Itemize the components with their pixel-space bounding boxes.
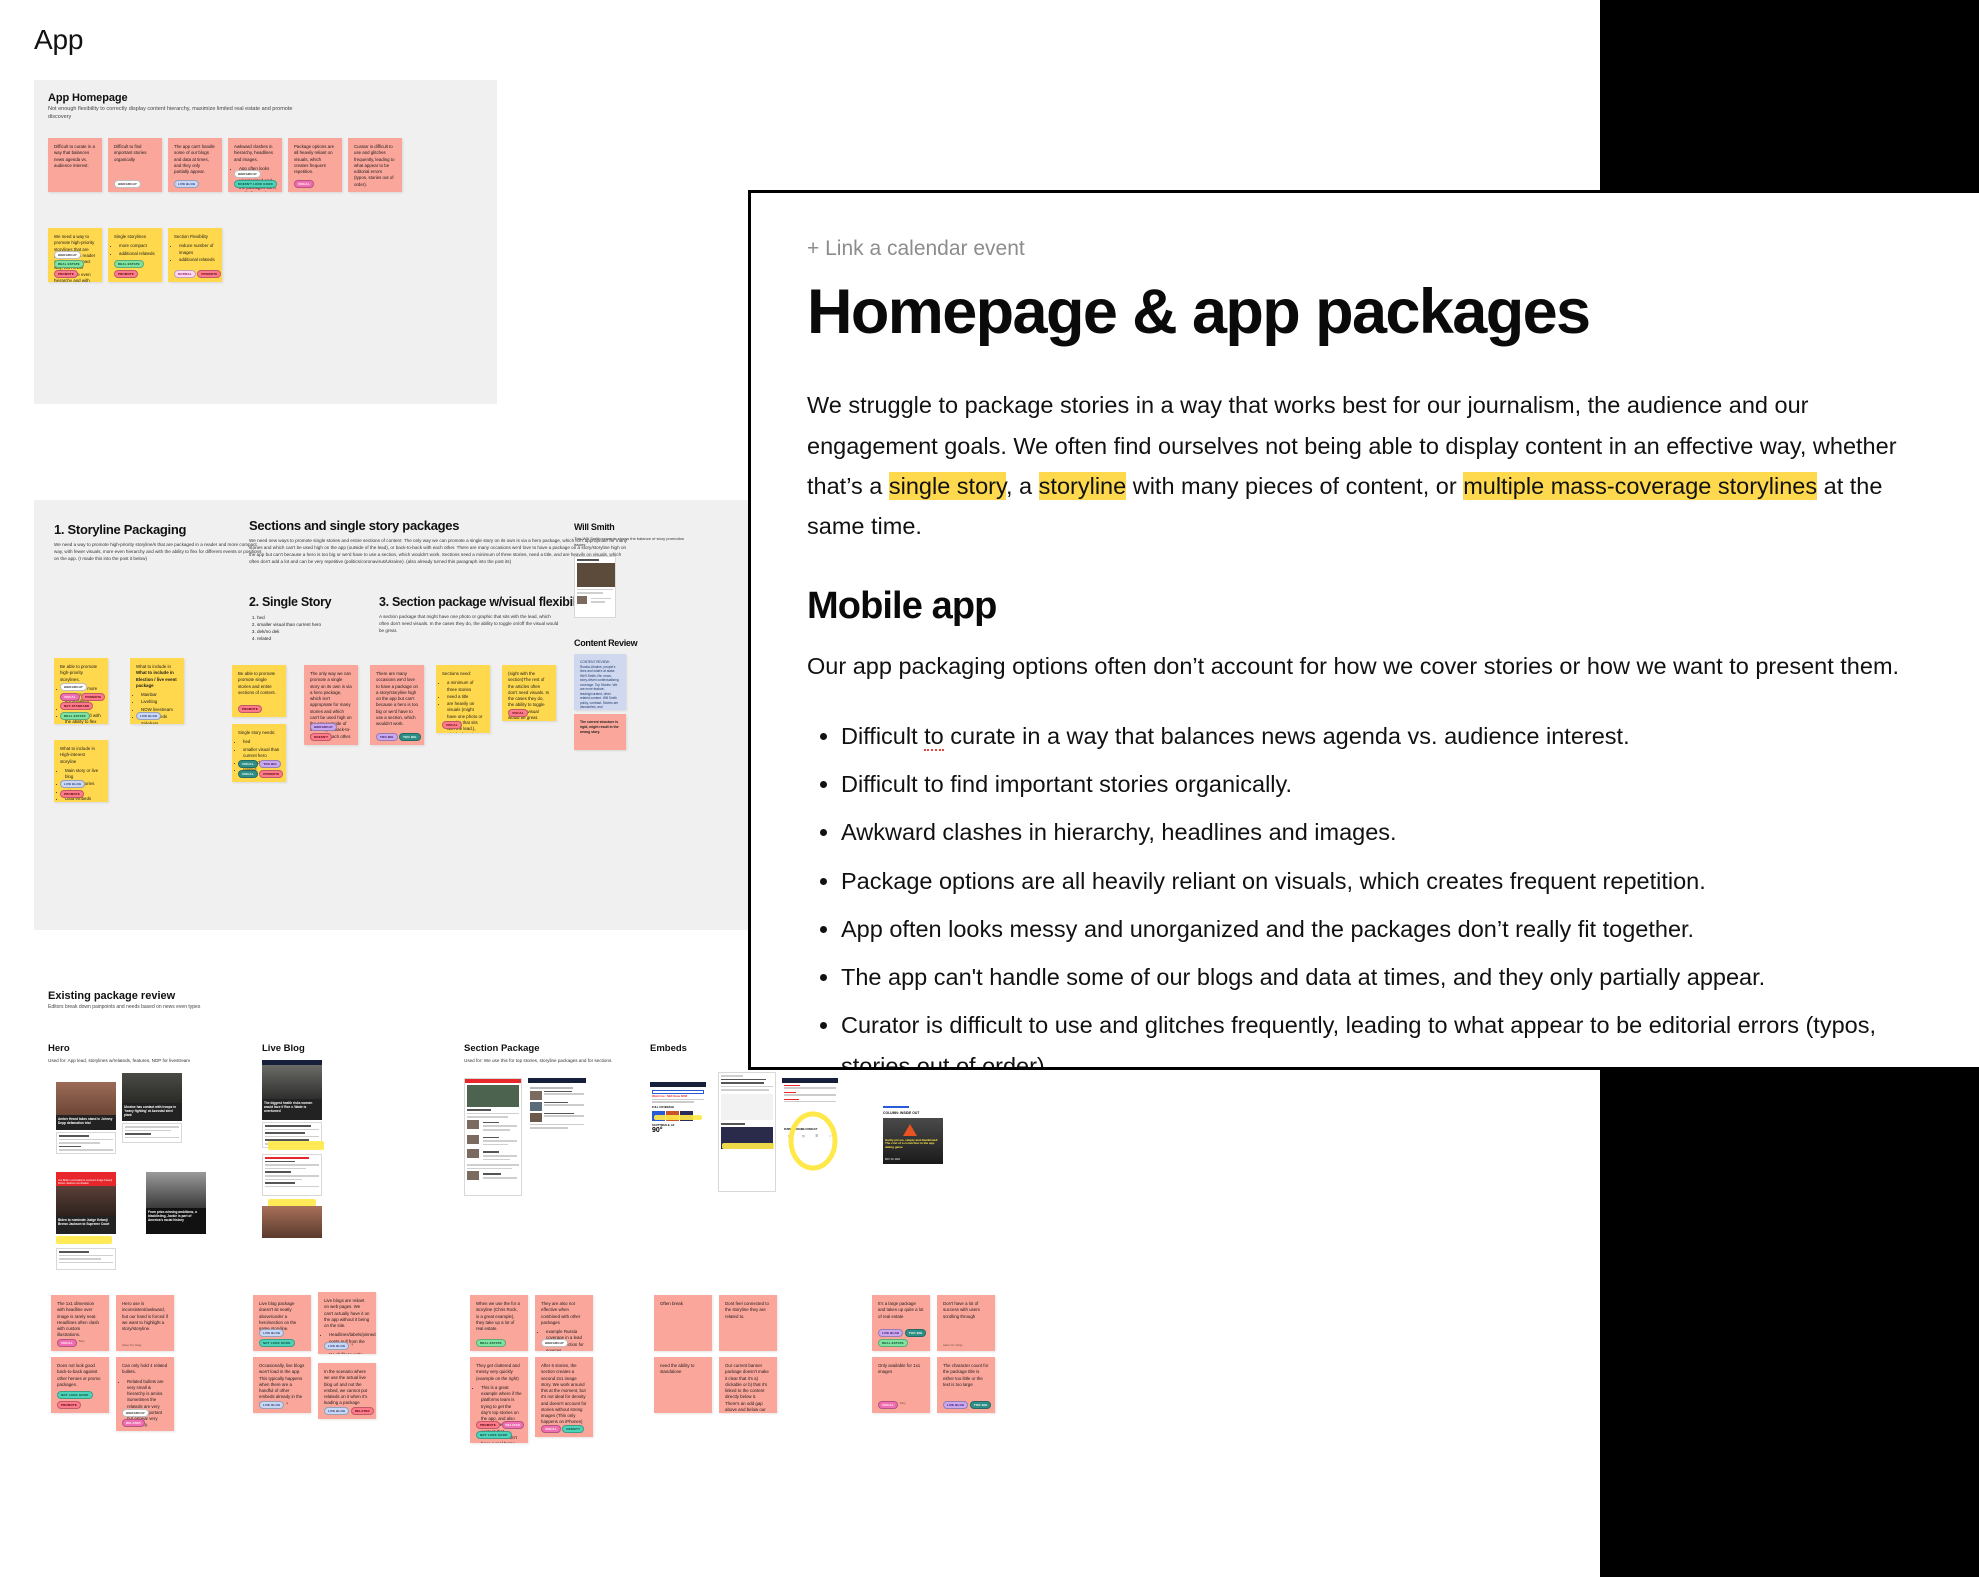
sticky-bullet: more compact bbox=[119, 243, 156, 249]
sticky-bullet: No ability to write app-focused headline… bbox=[329, 1352, 370, 1354]
sticky-bullet: a minimum of three stories bbox=[447, 680, 484, 693]
tag: RELATED bbox=[122, 1419, 145, 1427]
sticky-note[interactable]: (sight with the section)The rest of the … bbox=[502, 665, 556, 721]
tag: VISUAL bbox=[238, 760, 258, 768]
sticky-text: What to include in What to include in El… bbox=[136, 664, 178, 689]
sticky-tags: VISUAL Tony bbox=[878, 1401, 906, 1409]
sticky-author: nj bbox=[286, 1401, 288, 1409]
sticky-note[interactable]: They are also not effective when combine… bbox=[535, 1295, 593, 1351]
list-item: hed bbox=[257, 614, 359, 621]
tag: PROMOTE bbox=[57, 1401, 81, 1409]
sticky-tags: VISUAL DENSITY bbox=[541, 1425, 584, 1433]
thumb-caption: Amber Heard takes stand in Johnny Depp d… bbox=[56, 1115, 116, 1127]
sticky-text: Difficult to curate in a way that balanc… bbox=[54, 144, 96, 169]
sticky-note[interactable]: The only way we can promote a single sto… bbox=[304, 665, 358, 745]
tag: TOO BIG bbox=[399, 733, 421, 741]
sticky-tags: LIVE BLOG TOO BIG REAL ESTATE bbox=[878, 1329, 929, 1347]
tag: VISUAL bbox=[238, 770, 258, 778]
intro-mid2: with many pieces of content, or bbox=[1126, 473, 1463, 499]
tag: PROMOTE bbox=[476, 1421, 500, 1429]
tag: REAL ESTATE bbox=[476, 1339, 506, 1347]
list-single-story: hed smaller visual than current hero dek… bbox=[249, 614, 359, 642]
sticky-note[interactable]: Sections need: a minimum of three storie… bbox=[436, 665, 490, 733]
tag: LIVE BLOG bbox=[878, 1329, 903, 1337]
tag: LIVE BLOG bbox=[174, 180, 199, 188]
sticky-tags: LIVE BLOG bbox=[136, 712, 161, 720]
highlight-mark bbox=[654, 1115, 702, 1120]
tag: LIVE BLOG bbox=[324, 1407, 349, 1415]
tag: VISUAL bbox=[442, 721, 462, 729]
sticky-tags: LIVE BLOG TOO BIG bbox=[943, 1401, 991, 1409]
highlight-mark bbox=[268, 1141, 324, 1150]
tag: REAL ESTATE bbox=[60, 712, 90, 720]
sticky-bullets: more compact additional relateds bbox=[114, 243, 156, 257]
tag: VISUAL bbox=[57, 1339, 77, 1347]
sticky-tags: PROMOTE RELATED NOT LOOK GOOD bbox=[476, 1421, 527, 1439]
sticky-author: Irene Ou Yang bbox=[943, 1343, 962, 1347]
sticky-text: Only available for 1x1 images bbox=[878, 1363, 924, 1376]
thumbnail-hero-related[interactable] bbox=[56, 1132, 116, 1154]
column-title-embeds: Embeds bbox=[650, 1043, 687, 1054]
heading-content-review: Content Review bbox=[574, 638, 637, 648]
doc-bullet-list: Difficult to curate in a way that balanc… bbox=[807, 716, 1923, 1070]
tag: TOO BIG bbox=[905, 1329, 927, 1337]
tag: TOO BIG bbox=[970, 1401, 992, 1409]
sticky-note[interactable]: What to include in What to include in El… bbox=[130, 658, 184, 724]
doc-intro-paragraph: We struggle to package stories in a way … bbox=[807, 385, 1923, 547]
highlight-mark bbox=[722, 1143, 774, 1149]
sticky-tags: VISUAL bbox=[294, 180, 314, 188]
page-title: App bbox=[34, 24, 83, 56]
sticky-tags: Irene Ou Yang bbox=[122, 1343, 141, 1347]
sticky-note[interactable]: We need a way to promote high-priority s… bbox=[48, 228, 102, 282]
highlight-multiple-storylines: multiple mass-coverage storylines bbox=[1463, 472, 1817, 500]
tag: HIERARCHY bbox=[60, 683, 87, 691]
sticky-bullet: need a title bbox=[447, 694, 484, 700]
sticky-text: Often break bbox=[660, 1301, 706, 1307]
sticky-text: Single storylines bbox=[114, 234, 156, 240]
column-usedfor-hero: Used for: App lead, storylines w/related… bbox=[48, 1058, 198, 1065]
sticky-note[interactable]: Hero use is inconsistent/awkward, but ou… bbox=[116, 1295, 174, 1351]
thumb-caption: Ukraine has contact with troops in 'heav… bbox=[122, 1103, 182, 1119]
sticky-note[interactable]: Curator is difficult to use and glitches… bbox=[348, 138, 402, 192]
tag: REAL ESTATE bbox=[878, 1339, 908, 1347]
sticky-note[interactable]: Often break bbox=[654, 1295, 712, 1351]
heading-storyline-packaging: 1. Storyline Packaging bbox=[54, 522, 186, 537]
sticky-note[interactable]: Be able to promote high-priority storyli… bbox=[54, 658, 108, 724]
column-title-live-blog: Live Blog bbox=[262, 1043, 305, 1054]
doc-bullet-item: Awkward clashes in hierarchy, headlines … bbox=[841, 812, 1923, 853]
tag: TOO BIG bbox=[376, 733, 398, 741]
sticky-tags: HIERARCHY REAL ESTATE PROMOTE bbox=[54, 251, 102, 278]
thumbnail-hero-footer[interactable] bbox=[56, 1248, 116, 1270]
heading-sections-single-story: Sections and single story packages bbox=[249, 518, 459, 533]
list-item: related bbox=[257, 635, 359, 642]
sticky-note[interactable]: The 1x1 dimension with headline over ima… bbox=[51, 1295, 109, 1351]
thumbnail-liveblog-updates[interactable] bbox=[262, 1154, 322, 1196]
doc-title: Homepage & app packages bbox=[807, 279, 1923, 345]
highlight-circle-icon bbox=[786, 1110, 840, 1172]
list-item: dek/no dek bbox=[257, 628, 359, 635]
spellcheck-underline: to bbox=[924, 723, 944, 751]
sticky-text: Live blog package doesn't sit neatly abo… bbox=[259, 1301, 305, 1332]
sticky-bullet: hed bbox=[243, 739, 280, 745]
thumbnail-embed-nbc[interactable]: Watch live : NBC News NOW FULL COVERAGE … bbox=[650, 1082, 706, 1192]
heading-section-package: 3. Section package w/visual flexibility bbox=[379, 595, 590, 609]
thumbnail-section-right[interactable] bbox=[528, 1078, 586, 1170]
tag: DOESN'T LOOK GOOD bbox=[234, 180, 277, 188]
sticky-note[interactable]: Live blog package doesn't sit neatly abo… bbox=[253, 1295, 311, 1351]
sticky-note[interactable]: In the scenario where we use the actual … bbox=[318, 1363, 376, 1419]
tag: PROMOTE bbox=[197, 270, 221, 278]
sticky-note[interactable]: Single storylines more compact additiona… bbox=[108, 228, 162, 282]
sticky-tags: LIVE BLOG nj bbox=[259, 1401, 288, 1409]
tag: LIVE BLOG bbox=[136, 712, 161, 720]
tag: PROMOTE bbox=[54, 270, 78, 278]
subtitle-existing-package-review: Editors break down painpoints and needs … bbox=[48, 1004, 200, 1010]
tag: RELATED bbox=[351, 1407, 374, 1415]
sticky-note[interactable]: Awkward clashes in hierarchy, headlines … bbox=[228, 138, 282, 192]
doc-bullet-item: App often looks messy and unorganized an… bbox=[841, 909, 1923, 950]
sticky-note[interactable]: The current structure is rigid, might re… bbox=[574, 714, 626, 750]
sticky-bullet: smaller visual than current hero bbox=[243, 747, 280, 760]
thumb-caption: The biggest health risks women would fac… bbox=[262, 1099, 322, 1115]
sticky-tags: VISUAL bbox=[442, 721, 462, 729]
doc-section-title-mobile-app: Mobile app bbox=[807, 585, 1923, 628]
sticky-text: Live blogs are reliant on web pages. We … bbox=[324, 1298, 370, 1329]
sticky-note[interactable]: need the ability to standalone bbox=[654, 1357, 712, 1413]
tag: PROMOTE bbox=[238, 705, 262, 713]
sticky-tags: REAL ESTATE bbox=[476, 1339, 506, 1347]
doc-bullet-item: The app can't handle some of our blogs a… bbox=[841, 957, 1923, 998]
tag: NOT LOOK GOOD bbox=[476, 1431, 512, 1439]
sticky-text: Package options are all heavily reliant … bbox=[294, 144, 336, 175]
sticky-author: Tony bbox=[899, 1401, 905, 1409]
sticky-tags: REAL ESTATE PROMOTE bbox=[114, 260, 162, 278]
sticky-text: They are also not effective when combine… bbox=[541, 1301, 587, 1326]
sticky-tags: LIVE BLOG RELATED bbox=[324, 1407, 374, 1415]
paragraph-section-package: A section package that might have one ph… bbox=[379, 614, 559, 635]
tag: VISUAL bbox=[878, 1401, 898, 1409]
tag: DENSITY bbox=[562, 1425, 584, 1433]
paragraph-will-smith: This Will Smith example shows the balanc… bbox=[574, 536, 694, 548]
sticky-tags: VISUAL Tony bbox=[57, 1339, 85, 1347]
sticky-tags: VISUAL TOO BIG VISUAL PROMOTE bbox=[238, 760, 286, 778]
sticky-text: Difficult to find important stories orga… bbox=[114, 144, 156, 163]
sticky-note[interactable]: CONTENT REVIEW: Russia-Ukraine, people's… bbox=[574, 654, 626, 710]
tag: HIERARCHY bbox=[541, 1339, 568, 1347]
tag: NOT LOOK GOOD bbox=[259, 1339, 295, 1347]
sticky-bullet: Mainbar bbox=[141, 692, 178, 698]
frame-heading-homepage: App Homepage bbox=[48, 92, 127, 104]
sticky-bullet: Sidebars bbox=[141, 721, 178, 724]
sticky-text: There are many occasions we'd love to ha… bbox=[376, 671, 418, 727]
tag: DOESN'T bbox=[310, 733, 332, 741]
sticky-text: It's a large package and takes up quite … bbox=[878, 1301, 924, 1320]
column-title-hero: Hero bbox=[48, 1043, 70, 1054]
sticky-text: What to include in High-interest storyli… bbox=[60, 746, 102, 765]
sticky-text: After 6 stories, the section creates a s… bbox=[541, 1363, 587, 1426]
document-overlay-panel[interactable]: + Link a calendar event Homepage & app p… bbox=[748, 190, 1979, 1070]
tag: PROMOTE bbox=[114, 270, 138, 278]
doc-bullet-item: Difficult to find important stories orga… bbox=[841, 764, 1923, 805]
sticky-note[interactable]: Only available for 1x1 images VISUAL Ton… bbox=[872, 1357, 930, 1413]
sticky-tags: HIERARCHY DOESN'T LOOK GOOD bbox=[234, 170, 282, 188]
sticky-text: Can only hold 4 related bullets. bbox=[122, 1363, 168, 1376]
sticky-note[interactable]: There are many occasions we'd love to ha… bbox=[370, 665, 424, 745]
sticky-text: The 1x1 dimension with headline over ima… bbox=[57, 1301, 103, 1339]
tag: VISUAL bbox=[60, 693, 80, 701]
tag: NOT-STANDARD bbox=[60, 702, 93, 710]
tag: LIVE BLOG bbox=[259, 1401, 284, 1409]
sticky-text: They get cluttered and messy very quickl… bbox=[476, 1363, 522, 1382]
sticky-text: Sections need: bbox=[442, 671, 484, 677]
sticky-note[interactable]: Dont feel connected to the storyline the… bbox=[719, 1295, 777, 1351]
doc-bullet-item: Difficult to curate in a way that balanc… bbox=[841, 716, 1923, 757]
sticky-tags: LIVE BLOG nj bbox=[324, 1342, 353, 1350]
tag: REAL ESTATE bbox=[114, 260, 144, 268]
column-usedfor-section-package: Used for: We use this for top stories, s… bbox=[464, 1058, 614, 1065]
sticky-tags: HIERARCHY bbox=[541, 1339, 568, 1347]
sticky-tags: LIVE BLOG NOT LOOK GOOD bbox=[259, 1329, 310, 1347]
doc-section-intro: Our app packaging options often don’t ac… bbox=[807, 646, 1923, 686]
sticky-note[interactable]: Occasionally, live blogs won't load in t… bbox=[253, 1357, 311, 1413]
tag: HIERARCHY bbox=[122, 1409, 149, 1417]
sticky-tags: LIVE BLOG PROMOTE bbox=[60, 780, 108, 798]
tag: HIERARCHY bbox=[114, 180, 141, 188]
paragraph-storyline-packaging: We need a way to promote high-priority s… bbox=[54, 542, 266, 563]
sticky-note[interactable]: Don't have a lot of success with users s… bbox=[937, 1295, 995, 1351]
sticky-text: The character count for the package titl… bbox=[943, 1363, 989, 1388]
sticky-note[interactable]: The app can't handle some of our blogs a… bbox=[168, 138, 222, 192]
thumbnail-hero-jackson[interactable]: Joe Biden nominated to succeed Judge Ket… bbox=[56, 1172, 116, 1234]
sticky-bold: What to include in Election / live event… bbox=[136, 670, 177, 688]
tag: REAL ESTATE bbox=[54, 260, 84, 268]
sticky-note[interactable]: When we use the for a storyline (Chris R… bbox=[470, 1295, 528, 1351]
sticky-note[interactable]: Does not look good back-to-back against … bbox=[51, 1357, 109, 1413]
tag: HIERARCHY bbox=[310, 723, 337, 731]
sticky-text: When we use the for a storyline (Chris R… bbox=[476, 1301, 522, 1332]
thumbnail-will-smith[interactable] bbox=[574, 556, 616, 618]
sticky-text: Don't have a lot of success with users s… bbox=[943, 1301, 989, 1320]
tag: VISUAL bbox=[294, 180, 314, 188]
tag: TOO BIG bbox=[259, 760, 281, 768]
sticky-text: Awkward clashes in hierarchy, headlines … bbox=[234, 144, 276, 163]
tag: RELATED bbox=[502, 1421, 525, 1429]
heading-single-story: 2. Single Story bbox=[249, 595, 331, 609]
tag: LIVE BLOG bbox=[324, 1342, 349, 1350]
sticky-author: nj bbox=[351, 1342, 353, 1350]
thumb-caption: Biden to nominate Judge Ketanji Brown Ja… bbox=[56, 1216, 116, 1228]
sticky-note[interactable]: It's a large package and takes up quite … bbox=[872, 1295, 930, 1351]
thumbnail-hero-ukraine-related[interactable] bbox=[122, 1123, 182, 1143]
frame-app-homepage[interactable]: App Homepage Not enough flexibility to c… bbox=[34, 80, 497, 404]
sticky-text: Section Flexibility bbox=[174, 234, 216, 240]
thumbnail-hero-amber[interactable]: Amber Heard takes stand in Johnny Depp d… bbox=[56, 1082, 116, 1130]
sticky-text: Dont feel connected to the storyline the… bbox=[725, 1301, 771, 1320]
sticky-tags: HIERARCHY VISUAL PROMOTE NOT-STANDARD RE… bbox=[60, 683, 108, 720]
tag: LIVE BLOG bbox=[943, 1401, 968, 1409]
sticky-bullet: additional relateds bbox=[119, 251, 156, 257]
thumbnail-hero-bw[interactable]: From prize-winning ambitions, a blacklis… bbox=[146, 1172, 206, 1234]
sticky-tags: PROMOTE bbox=[238, 705, 262, 713]
paragraph-sections: We need new ways to promote single stori… bbox=[249, 538, 629, 566]
sticky-note[interactable]: Single story needs: hed smaller visual t… bbox=[232, 724, 286, 782]
sticky-tags: HIERARCHY DOESN'T bbox=[310, 723, 358, 741]
sticky-note[interactable]: Difficult to find important stories orga… bbox=[108, 138, 162, 192]
tag: PROMOTE bbox=[60, 790, 84, 798]
sticky-tags: NORMAL PROMOTE bbox=[174, 270, 221, 278]
tag: PROMOTE bbox=[81, 693, 105, 701]
sticky-note[interactable]: The character count for the package titl… bbox=[937, 1357, 995, 1413]
sticky-tags: NOT LOOK GOOD PROMOTE bbox=[57, 1391, 108, 1409]
column-title-section-package: Section Package bbox=[464, 1043, 540, 1054]
sticky-text: Be able to promote high-priority storyli… bbox=[60, 664, 102, 683]
sticky-note[interactable]: Difficult to curate in a way that balanc… bbox=[48, 138, 102, 192]
link-a-calendar-event-button[interactable]: + Link a calendar event bbox=[807, 237, 1923, 261]
sticky-note[interactable]: Our current banner package doesn't make … bbox=[719, 1357, 777, 1413]
tag: HIERARCHY bbox=[54, 251, 81, 259]
sticky-text: CONTENT REVIEW: Russia-Ukraine, people's… bbox=[580, 660, 620, 710]
sticky-text: In the scenario where we use the actual … bbox=[324, 1369, 370, 1407]
sticky-tags: VISUAL bbox=[508, 709, 528, 717]
tag: NORMAL bbox=[174, 270, 196, 278]
doc-bullet-item: Curator is difficult to use and glitches… bbox=[841, 1005, 1923, 1070]
list-item: smaller visual than current hero bbox=[257, 621, 359, 628]
thumbnail-embed-column[interactable]: COLUMN: INSIDE OUT Guilty prison, simply… bbox=[880, 1103, 946, 1171]
tag: VISUAL bbox=[541, 1425, 561, 1433]
tag: LIVE BLOG bbox=[259, 1329, 284, 1337]
thumbnail-liveblog-photo[interactable] bbox=[262, 1206, 322, 1238]
thumb-caption: From prize-winning ambitions, a blacklis… bbox=[146, 1208, 206, 1224]
thumbnail-hero-ukraine[interactable]: Ukraine has contact with troops in 'heav… bbox=[122, 1073, 182, 1121]
sticky-tags: Irene Ou Yang bbox=[943, 1343, 962, 1347]
intro-mid1: , a bbox=[1006, 473, 1039, 499]
sticky-bullet: additional relateds bbox=[179, 257, 216, 263]
sticky-text: Single story needs: bbox=[238, 730, 280, 736]
sticky-note[interactable]: After 6 stories, the section creates a s… bbox=[535, 1357, 593, 1437]
sticky-text: need the ability to standalone bbox=[660, 1363, 706, 1376]
thumbnail-section-left[interactable] bbox=[464, 1078, 522, 1196]
sticky-note[interactable]: Section Flexibility reduce number of ima… bbox=[168, 228, 222, 282]
sticky-author: Tony bbox=[78, 1339, 84, 1347]
doc-bullet-item: Package options are all heavily reliant … bbox=[841, 861, 1923, 902]
sticky-tags: TOO BIG TOO BIG bbox=[376, 733, 421, 741]
sticky-text: Be able to promote promote single storie… bbox=[238, 671, 280, 696]
tag: NOT LOOK GOOD bbox=[57, 1391, 93, 1399]
highlight-storyline: storyline bbox=[1039, 472, 1127, 500]
sticky-text: Hero use is inconsistent/awkward, but ou… bbox=[122, 1301, 168, 1332]
highlight-single-story: single story bbox=[889, 472, 1006, 500]
sticky-text: The current structure is rigid, might re… bbox=[580, 720, 620, 734]
thumbnail-embed-map[interactable] bbox=[718, 1072, 776, 1192]
sticky-note[interactable]: Be able to promote promote single storie… bbox=[232, 665, 286, 717]
sticky-note[interactable]: They get cluttered and messy very quickl… bbox=[470, 1357, 528, 1443]
sticky-author: Irene Ou Yang bbox=[122, 1343, 141, 1347]
highlight-mark bbox=[56, 1236, 112, 1244]
sticky-note[interactable]: Can only hold 4 related bullets. Related… bbox=[116, 1357, 174, 1431]
sticky-bullets: reduce number of images additional relat… bbox=[174, 243, 216, 263]
thumbnail-liveblog-top[interactable]: The biggest health risks women would fac… bbox=[262, 1060, 322, 1120]
sticky-tags: HIERARCHY RELATED bbox=[122, 1409, 173, 1427]
heading-existing-package-review: Existing package review bbox=[48, 990, 175, 1002]
sticky-text: The app can't handle some of our blogs a… bbox=[174, 144, 216, 175]
sticky-text: Our current banner package doesn't make … bbox=[725, 1363, 771, 1413]
sticky-text: Does not look good back-to-back against … bbox=[57, 1363, 103, 1388]
heading-will-smith: Will Smith bbox=[574, 522, 614, 532]
tag: PROMOTE bbox=[259, 770, 283, 778]
sticky-bullet: Main story or live blog bbox=[65, 768, 102, 781]
sticky-text: Curator is difficult to use and glitches… bbox=[354, 144, 396, 188]
sticky-note[interactable]: Package options are all heavily reliant … bbox=[288, 138, 342, 192]
sticky-bullet: reduce number of images bbox=[179, 243, 216, 256]
frame-subtitle-homepage: Not enough flexibility to correctly disp… bbox=[48, 106, 308, 122]
sticky-note[interactable]: Live blogs are reliant on web pages. We … bbox=[318, 1292, 376, 1354]
sticky-tags: HIERARCHY bbox=[114, 180, 141, 188]
tag: LIVE BLOG bbox=[60, 780, 85, 788]
tag: VISUAL bbox=[508, 709, 528, 717]
sticky-note[interactable]: What to include in High-interest storyli… bbox=[54, 740, 108, 802]
sticky-bullet: Liveblog bbox=[141, 699, 178, 705]
tag: HIERARCHY bbox=[234, 170, 261, 178]
sticky-tags: LIVE BLOG bbox=[174, 180, 199, 188]
